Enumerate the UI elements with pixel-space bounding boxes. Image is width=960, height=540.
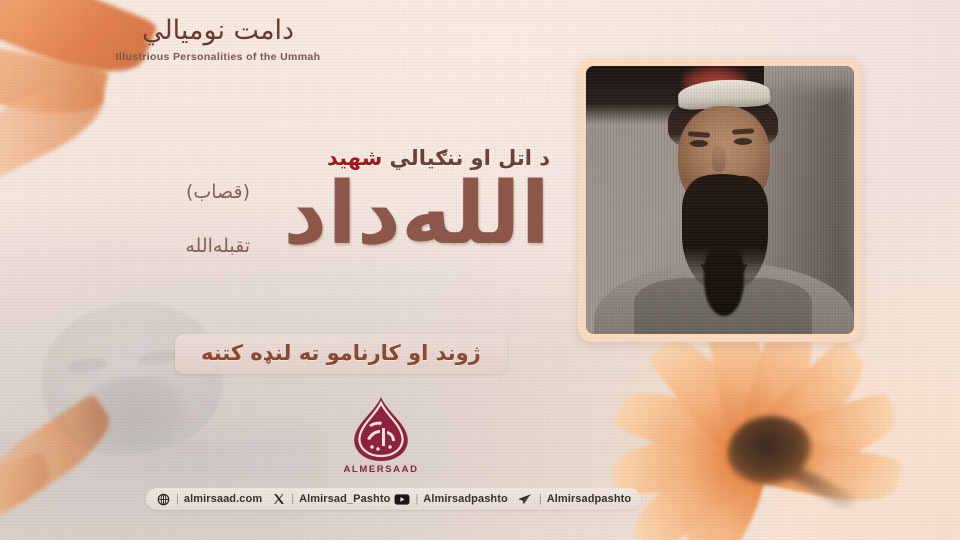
telegram-icon: [517, 492, 534, 507]
page-title: الله‌داد: [283, 171, 550, 257]
social-divider: |: [291, 493, 294, 505]
portrait-frame: [578, 58, 862, 342]
name-row: الله‌داد (قصاب) تقبله‌الله: [110, 173, 550, 293]
social-links-bar: | almirsaad.com | Almirsad_Pashto | Almi…: [146, 488, 641, 510]
social-divider: |: [539, 493, 542, 505]
decorative-petal-icon: [0, 451, 56, 533]
name-alias: (قصاب): [186, 181, 250, 203]
social-link-website[interactable]: | almirsaad.com: [156, 492, 262, 507]
social-divider: |: [176, 493, 179, 505]
social-handle-youtube: Almirsadpashto: [423, 493, 508, 505]
poster-canvas: دامت نوميالي Illustrious Personalities o…: [0, 0, 960, 540]
social-handle-x: Almirsad_Pashto: [299, 493, 390, 505]
social-divider: |: [415, 493, 418, 505]
brand-tagline: Illustrious Personalities of the Ummah: [78, 51, 358, 63]
youtube-icon: [393, 492, 410, 507]
social-link-telegram[interactable]: | Almirsadpashto: [517, 492, 631, 507]
social-link-youtube[interactable]: | Almirsadpashto: [393, 492, 507, 507]
x-twitter-icon: [271, 492, 286, 507]
almersaad-logo: ALMERSAAD: [335, 395, 427, 475]
brand-header: دامت نوميالي Illustrious Personalities o…: [78, 14, 358, 63]
social-handle-website: almirsaad.com: [184, 493, 262, 505]
decorative-petal-icon: [0, 66, 116, 186]
headline-block: د اتل او ننګيالي شهيد الله‌داد (قصاب) تق…: [110, 145, 550, 293]
portrait-photo: [586, 66, 854, 334]
almersaad-teardrop-icon: [345, 395, 417, 463]
subtitle-banner: ژوند او کارنامو ته لنډه کتنه: [175, 334, 507, 374]
social-handle-telegram: Almirsadpashto: [547, 493, 632, 505]
subtitle-text: ژوند او کارنامو ته لنډه کتنه: [201, 341, 481, 365]
almersaad-wordmark: ALMERSAAD: [335, 464, 427, 475]
decorative-petal-icon: [0, 393, 122, 520]
brand-calligraphy: دامت نوميالي: [78, 14, 358, 48]
decorative-flower-icon: [600, 320, 960, 540]
social-link-x[interactable]: | Almirsad_Pashto: [271, 492, 390, 507]
name-dua: تقبله‌الله: [185, 235, 250, 257]
globe-icon: [156, 492, 171, 507]
